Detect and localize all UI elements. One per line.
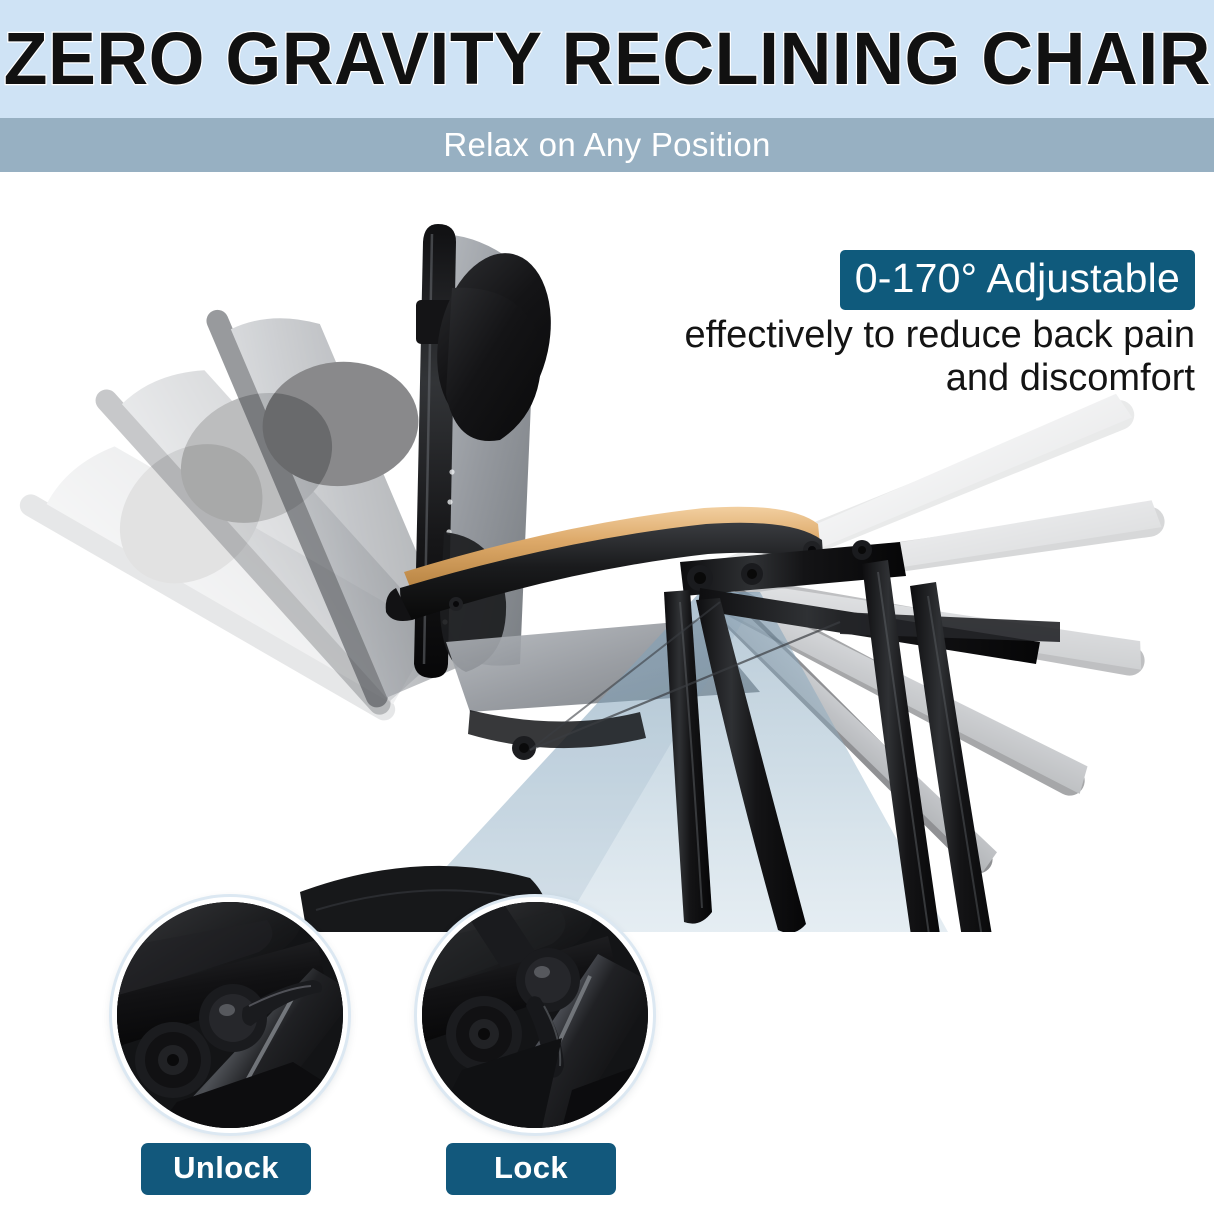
chair-illustration [0,172,1214,932]
label-unlock: Unlock [141,1143,311,1195]
page-title: ZERO GRAVITY RECLINING CHAIR [3,22,1210,96]
title-band: ZERO GRAVITY RECLINING CHAIR [0,0,1214,118]
page-subtitle: Relax on Any Position [443,126,770,164]
label-lock: Lock [446,1143,616,1195]
detail-circle-lock [417,897,653,1133]
subtitle-band: Relax on Any Position [0,118,1214,172]
infographic-page: ZERO GRAVITY RECLINING CHAIR Relax on An… [0,0,1214,1214]
detail-circle-unlock [112,897,348,1133]
